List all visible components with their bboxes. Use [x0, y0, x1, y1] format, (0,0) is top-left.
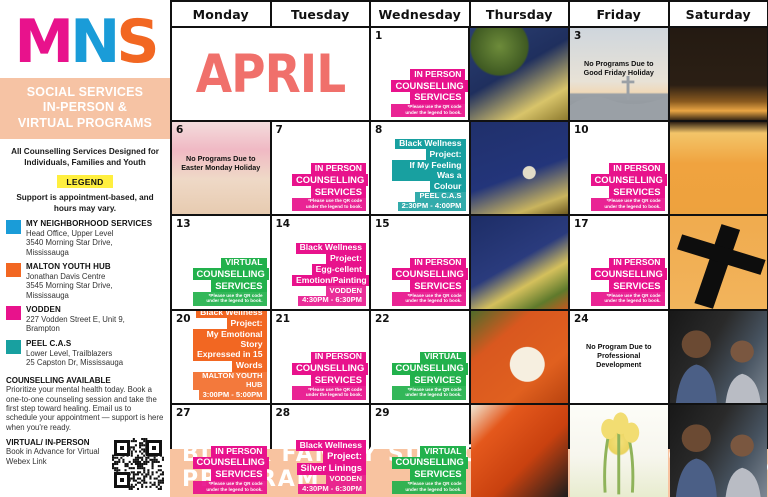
day-number: 10 [574, 124, 589, 136]
calendar-photo-cell[interactable] [471, 216, 569, 308]
calendar-day-cell[interactable]: 10IN PERSONCOUNSELLINGSERVICES*Please us… [570, 122, 668, 214]
badge-line: IN PERSON [410, 69, 465, 80]
day-header-friday: Friday [570, 2, 668, 26]
logo-letter-n: N [70, 12, 116, 72]
calendar-photo-cell[interactable] [670, 405, 768, 497]
calendar-day-cell[interactable]: 3No Programs Due to Good Friday Holiday [570, 28, 668, 120]
cell-photo-orange-sunset-glow [670, 122, 768, 214]
badge-location: MALTON YOUTH HUB [193, 372, 267, 390]
badge-time: 2:30PM - 4:00PM [398, 202, 466, 212]
day-number: 14 [276, 218, 291, 230]
cell-photo-blue-decorated-egg [471, 122, 569, 214]
badge-line: SERVICES [410, 469, 465, 481]
badge-line: COUNSELLING [392, 363, 468, 375]
day-of-week-header: MondayTuesdayWednesdayThursdayFridaySatu… [170, 0, 768, 28]
legend-item-name: MY NEIGHBORHOOD SERVICES [26, 219, 166, 229]
event-badge[interactable]: IN PERSONCOUNSELLINGSERVICES*Please use … [292, 163, 366, 211]
virtual-inperson-block: VIRTUAL/ IN-PERSON Book in Advance for V… [0, 432, 170, 490]
cell-photo-orange-patterned-egg [471, 405, 569, 497]
badge-line: COUNSELLING [591, 174, 667, 186]
calendar-week-row: 6No Programs Due to Easter Monday Holida… [172, 122, 767, 214]
banner-line-3: VIRTUAL PROGRAMS [6, 116, 164, 131]
badge-line: Expressed in 15 [193, 350, 266, 361]
legend-item-address: Head Office, Upper Level3540 Morning Sta… [26, 229, 166, 258]
calendar-day-cell[interactable]: 14Black WellnessProject:Egg-cellentEmoti… [272, 216, 370, 308]
day-number: 24 [574, 313, 589, 325]
calendar-day-cell[interactable]: 24No Program Due to Professional Develop… [570, 311, 668, 403]
event-badge[interactable]: IN PERSONCOUNSELLINGSERVICES*Please use … [193, 446, 267, 494]
badge-line: COUNSELLING [591, 268, 667, 280]
day-header-saturday: Saturday [670, 2, 768, 26]
legend-color-swatch [6, 306, 21, 320]
badge-line: SERVICES [311, 375, 366, 387]
holiday-note: No Programs Due to Good Friday Holiday [570, 59, 668, 77]
badge-line: Project: [426, 149, 466, 160]
badge-line: VIRTUAL [420, 352, 465, 363]
sidebar: M N S SOCIAL SERVICES IN-PERSON & VIRTUA… [0, 0, 170, 497]
legend-item: MALTON YOUTH HUBJonathan Davis Centre354… [6, 262, 166, 300]
badge-line: COUNSELLING [391, 80, 467, 92]
cell-photo-blue-yellow-egg-grass [471, 216, 569, 308]
event-badge[interactable]: IN PERSONCOUNSELLINGSERVICES*Please use … [391, 69, 465, 117]
badge-fine-print: *Please use the QR code under the legend… [392, 292, 466, 306]
day-number: 6 [176, 124, 183, 136]
day-number: 15 [375, 218, 390, 230]
event-badge[interactable]: VIRTUALCOUNSELLINGSERVICES*Please use th… [392, 446, 466, 494]
event-badge[interactable]: VIRTUALCOUNSELLINGSERVICES*Please use th… [193, 258, 267, 306]
logo-letter-s: S [116, 12, 155, 72]
event-badge[interactable]: IN PERSONCOUNSELLINGSERVICES*Please use … [392, 258, 466, 306]
badge-line: Black Wellness [395, 139, 465, 150]
holiday-note: No Programs Due to Easter Monday Holiday [172, 154, 270, 172]
badge-line: My Emotional Story [193, 329, 267, 350]
badge-line: COUNSELLING [292, 174, 368, 186]
badge-time: 4:30PM - 6:30PM [298, 484, 366, 494]
day-number: 21 [276, 313, 291, 325]
event-badge[interactable]: VIRTUALCOUNSELLINGSERVICES*Please use th… [392, 352, 466, 400]
badge-fine-print: *Please use the QR code under the legend… [193, 292, 267, 306]
calendar-day-cell[interactable]: 15IN PERSONCOUNSELLINGSERVICES*Please us… [371, 216, 469, 308]
day-number: 28 [276, 407, 291, 419]
calendar-day-cell[interactable]: 8Black WellnessProject:If My Feeling Was… [371, 122, 469, 214]
calendar-day-cell[interactable]: 6No Programs Due to Easter Monday Holida… [172, 122, 270, 214]
badge-fine-print: *Please use the QR code under the legend… [391, 104, 465, 118]
badge-line: SERVICES [609, 280, 664, 292]
legend-item-name: PEEL C.A.S [26, 339, 166, 349]
badge-line: COUNSELLING [292, 363, 368, 375]
day-number: 20 [176, 313, 191, 325]
day-header-monday: Monday [172, 2, 270, 26]
legend-color-swatch [6, 220, 21, 234]
badge-line: SERVICES [410, 92, 465, 104]
badge-line: Emotion/Painting [292, 275, 369, 286]
badge-line: Colour [430, 181, 466, 192]
legend-item-address: 227 Vodden Street E, Unit 9,Brampton [26, 315, 166, 334]
badge-line: IN PERSON [211, 446, 266, 457]
calendar: MondayTuesdayWednesdayThursdayFridaySatu… [170, 0, 768, 497]
badge-line: VIRTUAL [420, 446, 465, 457]
badge-line: IN PERSON [609, 163, 664, 174]
badge-line: IN PERSON [609, 258, 664, 269]
services-subtitle: All Counselling Services Designed for In… [0, 139, 170, 172]
calendar-photo-cell[interactable] [670, 311, 768, 403]
calendar-photo-cell[interactable] [471, 405, 569, 497]
calendar-week-row: APRIL1IN PERSONCOUNSELLINGSERVICES*Pleas… [172, 28, 767, 120]
day-number: 3 [574, 30, 581, 42]
calendar-day-cell[interactable]: 13VIRTUALCOUNSELLINGSERVICES*Please use … [172, 216, 270, 308]
badge-line: COUNSELLING [392, 457, 468, 469]
badge-time: 4:30PM - 6:30PM [298, 296, 366, 306]
logo-letter-m: M [14, 12, 70, 72]
badge-fine-print: *Please use the QR code under the legend… [392, 386, 466, 400]
legend-item-name: VODDEN [26, 305, 166, 315]
flyer-page: M N S SOCIAL SERVICES IN-PERSON & VIRTUA… [0, 0, 768, 497]
day-number: 8 [375, 124, 382, 136]
day-number: 22 [375, 313, 390, 325]
legend-color-swatch [6, 263, 21, 277]
calendar-day-cell[interactable]: 21IN PERSONCOUNSELLINGSERVICES*Please us… [272, 311, 370, 403]
calendar-day-cell[interactable]: 20Black WellnessProject:My Emotional Sto… [172, 311, 270, 403]
badge-fine-print: *Please use the QR code under the legend… [392, 481, 466, 495]
day-number: 27 [176, 407, 191, 419]
calendar-photo-cell[interactable] [471, 311, 569, 403]
legend-list: MY NEIGHBORHOOD SERVICESHead Office, Upp… [0, 219, 170, 367]
badge-line: Egg-cellent [312, 264, 366, 275]
legend-color-swatch [6, 340, 21, 354]
badge-line: VIRTUAL [221, 258, 266, 269]
legend-item-address: Jonathan Davis Centre3545 Morning Star D… [26, 272, 166, 301]
badge-fine-print: *Please use the QR code under the legend… [292, 198, 366, 212]
calendar-photo-cell[interactable] [670, 28, 768, 120]
cell-photo-easter-eggs-blue-painted [470, 28, 568, 120]
event-badge[interactable]: Black WellnessProject:My Emotional Story… [193, 311, 267, 400]
cell-photo-dark-sunset-horizon [670, 28, 768, 120]
holiday-note: No Program Due to Professional Developme… [570, 342, 668, 369]
badge-fine-print: *Please use the QR code under the legend… [591, 292, 665, 306]
legend-item: VODDEN227 Vodden Street E, Unit 9,Brampt… [6, 305, 166, 334]
month-title-cell: APRIL [172, 28, 369, 120]
calendar-photo-cell[interactable] [670, 216, 768, 308]
counselling-title: COUNSELLING AVAILABLE [6, 376, 164, 386]
calendar-photo-cell[interactable] [470, 28, 568, 120]
calendar-photo-cell[interactable] [570, 405, 668, 497]
banner-line-2: IN-PERSON & [6, 100, 164, 115]
badge-line: SERVICES [211, 280, 266, 292]
calendar-day-cell[interactable]: 1IN PERSONCOUNSELLINGSERVICES*Please use… [371, 28, 469, 120]
mns-logo: M N S [0, 0, 170, 78]
qr-code-icon[interactable] [112, 438, 164, 490]
legend-item: MY NEIGHBORHOOD SERVICESHead Office, Upp… [6, 219, 166, 257]
badge-line: SERVICES [211, 469, 266, 481]
badge-line: Project: [326, 254, 366, 265]
calendar-weeks: APRIL1IN PERSONCOUNSELLINGSERVICES*Pleas… [170, 28, 768, 497]
calendar-photo-cell[interactable] [471, 122, 569, 214]
legend-item-address: Lower Level, Trailblazers25 Capston Dr, … [26, 349, 166, 368]
cell-photo-orange-egg-white-flower [471, 311, 569, 403]
badge-line: If My Feeling Was a [392, 160, 466, 181]
badge-location: VODDEN [326, 475, 367, 485]
badge-line: SERVICES [410, 280, 465, 292]
day-number: 17 [574, 218, 589, 230]
legend-badge-row: LEGEND [0, 172, 170, 193]
badge-line: COUNSELLING [193, 268, 269, 280]
day-header-tuesday: Tuesday [272, 2, 370, 26]
calendar-day-cell[interactable]: 7IN PERSONCOUNSELLINGSERVICES*Please use… [272, 122, 370, 214]
calendar-day-cell[interactable]: 22VIRTUALCOUNSELLINGSERVICES*Please use … [371, 311, 469, 403]
badge-line: SERVICES [311, 186, 366, 198]
banner-line-1: SOCIAL SERVICES [6, 85, 164, 100]
event-badge[interactable]: Black WellnessProject:Silver LiningsVODD… [292, 440, 366, 494]
legend-item: PEEL C.A.SLower Level, Trailblazers25 Ca… [6, 339, 166, 368]
badge-line: Black Wellness [296, 243, 366, 254]
badge-time: 3:00PM - 5:00PM [199, 390, 267, 400]
badge-fine-print: *Please use the QR code under the legend… [193, 481, 267, 495]
day-number: 29 [375, 407, 390, 419]
badge-fine-print: *Please use the QR code under the legend… [591, 198, 665, 212]
badge-line: SERVICES [410, 375, 465, 387]
badge-line: Project: [323, 451, 366, 463]
hours-note: Support is appointment-based, and hours … [0, 193, 170, 219]
badge-line: COUNSELLING [193, 457, 269, 469]
badge-fine-print: *Please use the QR code under the legend… [292, 386, 366, 400]
event-badge[interactable]: IN PERSONCOUNSELLINGSERVICES*Please use … [591, 163, 665, 211]
calendar-week-row: 20Black WellnessProject:My Emotional Sto… [172, 311, 767, 403]
calendar-week-row: 13VIRTUALCOUNSELLINGSERVICES*Please use … [172, 216, 767, 308]
event-badge[interactable]: IN PERSONCOUNSELLINGSERVICES*Please use … [292, 352, 366, 400]
badge-line: IN PERSON [410, 258, 465, 269]
month-title: APRIL [196, 43, 345, 105]
badge-line: Words [232, 361, 267, 372]
counselling-body: Prioritize your mental health today. Boo… [6, 385, 164, 432]
day-header-thursday: Thursday [471, 2, 569, 26]
badge-line: Silver Linings [297, 463, 366, 475]
counselling-available-block: COUNSELLING AVAILABLE Prioritize your me… [0, 373, 170, 432]
day-number: 1 [375, 30, 382, 42]
badge-line: IN PERSON [311, 352, 366, 363]
legend-badge: LEGEND [57, 175, 112, 188]
badge-line: COUNSELLING [392, 268, 468, 280]
event-badge[interactable]: Black WellnessProject:If My Feeling Was … [392, 139, 466, 212]
legend-item-name: MALTON YOUTH HUB [26, 262, 166, 272]
badge-line: SERVICES [609, 186, 664, 198]
day-header-wednesday: Wednesday [371, 2, 469, 26]
services-banner: SOCIAL SERVICES IN-PERSON & VIRTUAL PROG… [0, 78, 170, 139]
calendar-day-cell[interactable]: 17IN PERSONCOUNSELLINGSERVICES*Please us… [570, 216, 668, 308]
day-number: 13 [176, 218, 191, 230]
calendar-photo-cell[interactable] [670, 122, 768, 214]
badge-line: Black Wellness [296, 440, 366, 451]
badge-line: Project: [227, 318, 267, 329]
virtual-body: Book in Advance for Virtual Webex Link [6, 447, 108, 466]
badge-line: IN PERSON [311, 163, 366, 174]
day-number: 7 [276, 124, 283, 136]
event-badge[interactable]: IN PERSONCOUNSELLINGSERVICES*Please use … [591, 258, 665, 306]
virtual-title: VIRTUAL/ IN-PERSON [6, 438, 108, 448]
event-badge[interactable]: Black WellnessProject:Egg-cellentEmotion… [292, 243, 366, 306]
